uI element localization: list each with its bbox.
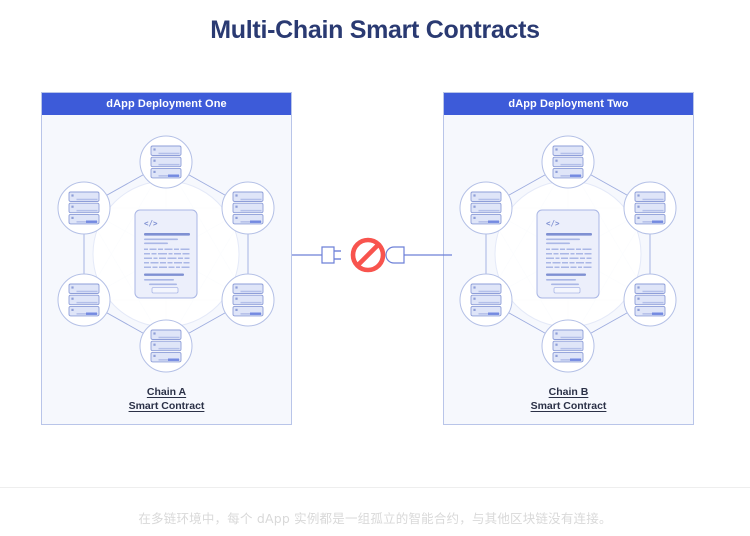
footer-caption: 在多链环境中，每个 dApp 实例都是一组孤立的智能合约，与其他区块链没有连接。: [0, 508, 750, 527]
chain-sub-right: Smart Contract: [444, 399, 693, 413]
connection-status-group: [292, 225, 452, 285]
panel-header-one: dApp Deployment One: [42, 93, 291, 115]
no-connection-svg: [292, 225, 452, 285]
panel-dapp-deployment-one: dApp Deployment One: [41, 92, 292, 425]
panel-header-two: dApp Deployment Two: [444, 93, 693, 115]
plug-icon: [322, 247, 341, 263]
chain-label-right: Chain B Smart Contract: [444, 385, 693, 413]
chain-name-left: Chain A: [42, 385, 291, 399]
diagram-canvas: Multi-Chain Smart Contracts dApp Deploym…: [0, 0, 750, 536]
page-title: Multi-Chain Smart Contracts: [0, 16, 750, 45]
network-diagram-right: Chain B Smart Contract: [444, 115, 693, 425]
chain-name-right: Chain B: [444, 385, 693, 399]
chain-label-left: Chain A Smart Contract: [42, 385, 291, 413]
footer-divider: [0, 487, 750, 488]
panel-dapp-deployment-two: dApp Deployment Two: [443, 92, 694, 425]
network-diagram-left: </>: [42, 115, 291, 425]
socket-icon: [386, 247, 404, 263]
network-graph-left-svg: </>: [42, 115, 291, 425]
chain-sub-left: Smart Contract: [42, 399, 291, 413]
prohibited-no-connection-icon: [351, 238, 385, 272]
network-graph-right-svg: [444, 115, 693, 425]
